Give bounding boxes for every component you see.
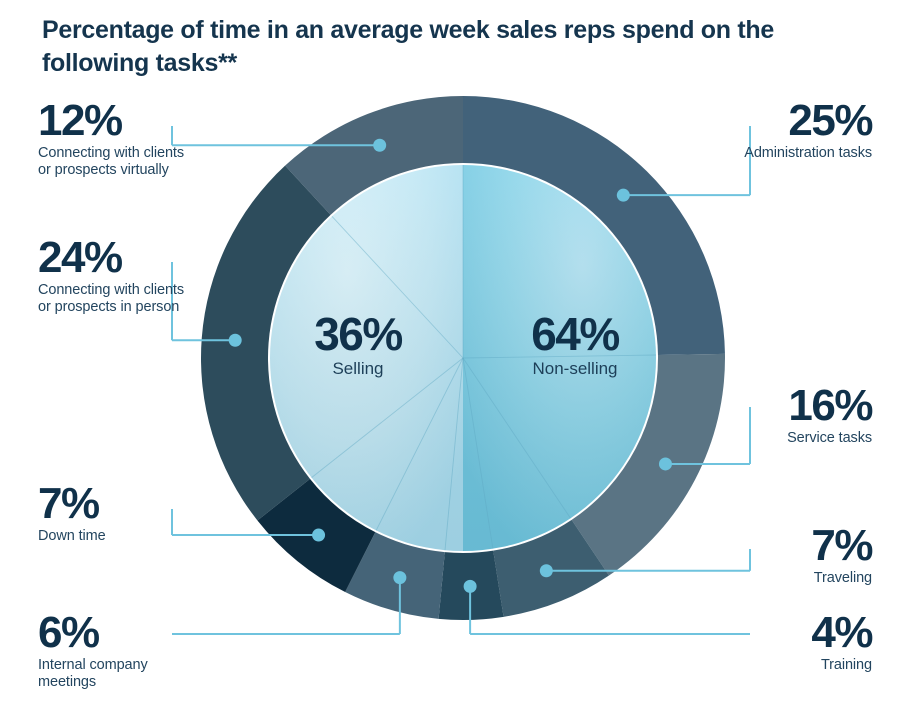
- callout-label: Traveling: [650, 570, 872, 588]
- callout-internal-meetings: 6% Internal company meetings: [38, 612, 228, 692]
- nonselling-value: 64%: [490, 313, 660, 357]
- callout-training: 4% Training: [650, 612, 872, 674]
- callout-administration-tasks: 25% Administration tasks: [650, 100, 872, 162]
- callout-connecting-in-person: 24% Connecting with clients or prospects…: [38, 237, 248, 317]
- callout-label: Connecting with clients or prospects in …: [38, 282, 248, 317]
- callout-traveling: 7% Traveling: [650, 525, 872, 587]
- callout-label: Down time: [38, 528, 228, 546]
- callout-connecting-virtually: 12% Connecting with clients or prospects…: [38, 100, 238, 180]
- leader-dot: [540, 564, 553, 577]
- callout-label: Service tasks: [650, 430, 872, 448]
- callout-label: Internal company meetings: [38, 657, 228, 692]
- leader-dot: [393, 571, 406, 584]
- center-label-nonselling: 64% Non-selling: [490, 313, 660, 379]
- selling-value: 36%: [288, 313, 428, 357]
- callout-down-time: 7% Down time: [38, 483, 228, 545]
- callout-value: 24%: [38, 237, 248, 279]
- callout-value: 25%: [650, 100, 872, 142]
- center-label-selling: 36% Selling: [288, 313, 428, 379]
- callout-service-tasks: 16% Service tasks: [650, 385, 872, 447]
- selling-label: Selling: [288, 359, 428, 380]
- leader-dot: [312, 529, 325, 542]
- leader-dot: [229, 334, 242, 347]
- callout-value: 12%: [38, 100, 238, 142]
- callout-value: 6%: [38, 612, 228, 654]
- leader-dot: [617, 189, 630, 202]
- leader-dot: [659, 457, 672, 470]
- leader-dot: [373, 139, 386, 152]
- callout-value: 4%: [650, 612, 872, 654]
- callout-label: Administration tasks: [650, 145, 872, 163]
- callout-value: 16%: [650, 385, 872, 427]
- callout-label: Connecting with clients or prospects vir…: [38, 145, 238, 180]
- callout-value: 7%: [38, 483, 228, 525]
- callout-value: 7%: [650, 525, 872, 567]
- leader-dot: [464, 580, 477, 593]
- callout-label: Training: [650, 657, 872, 675]
- nonselling-label: Non-selling: [490, 359, 660, 380]
